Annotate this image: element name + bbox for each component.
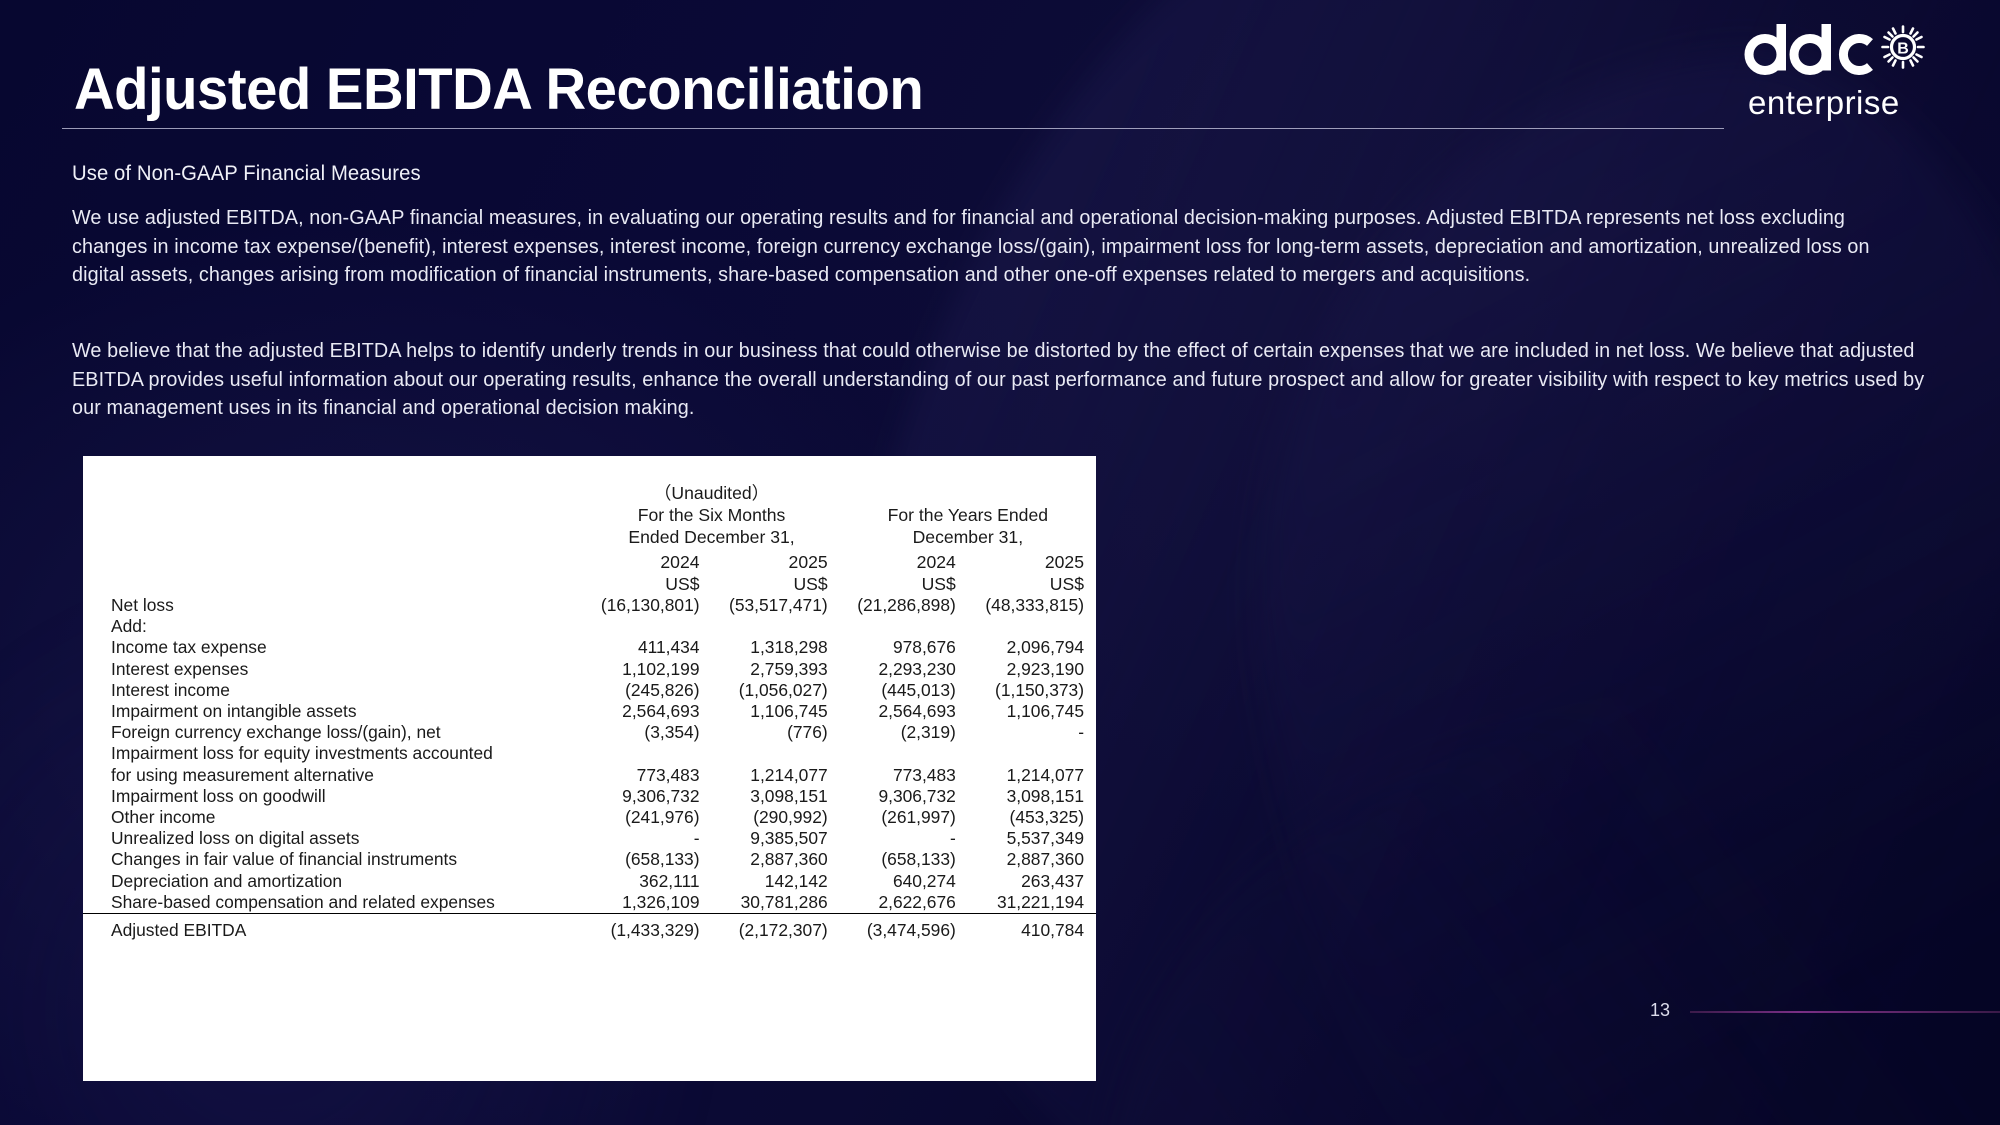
table-row: Add:: [83, 616, 1096, 637]
total-row-value-col1: (1,433,329): [583, 914, 711, 941]
row-value-col4: 5,537,349: [968, 828, 1096, 849]
group-header-line: December 31,: [840, 526, 1096, 548]
group-header-line: （Unaudited）: [583, 482, 839, 504]
row-label: Impairment loss on goodwill: [83, 786, 583, 807]
row-value-col1: (245,826): [583, 680, 711, 701]
row-value-col1: (658,133): [583, 849, 711, 870]
row-value-col1: 1,326,109: [583, 892, 711, 914]
reconciliation-table: （Unaudited）For the Six MonthsEnded Decem…: [83, 456, 1096, 941]
row-value-col1: [583, 616, 711, 637]
row-value-col1: [583, 743, 711, 764]
row-value-col4: [968, 616, 1096, 637]
table-row: Impairment loss for equity investments a…: [83, 743, 1096, 764]
total-row-value-col3: (3,474,596): [840, 914, 968, 941]
row-label: Depreciation and amortization: [83, 871, 583, 892]
row-value-col1: (241,976): [583, 807, 711, 828]
row-value-col3: 9,306,732: [840, 786, 968, 807]
page-title: Adjusted EBITDA Reconciliation: [74, 56, 923, 123]
row-value-col3: [840, 743, 968, 764]
group-header-line: Ended December 31,: [583, 526, 839, 548]
row-value-col3: 640,274: [840, 871, 968, 892]
table-row: for using measurement alternative773,483…: [83, 765, 1096, 786]
spacer-cell: [583, 456, 711, 482]
row-value-col4: (48,333,815): [968, 595, 1096, 616]
paragraph-non-gaap-belief: We believe that the adjusted EBITDA help…: [72, 337, 1934, 423]
group-header-line: For the Six Months: [583, 504, 839, 526]
row-value-col4: 2,096,794: [968, 637, 1096, 658]
group-header-line: For the Years Ended: [840, 504, 1096, 526]
paragraph-non-gaap-definition: We use adjusted EBITDA, non-GAAP financi…: [72, 204, 1906, 290]
row-value-col2: [712, 616, 840, 637]
row-value-col2: 2,759,393: [712, 659, 840, 680]
column-unit-header-1: US$: [583, 573, 711, 595]
row-value-col3: 2,564,693: [840, 701, 968, 722]
row-value-col3: 2,293,230: [840, 659, 968, 680]
row-value-col3: (261,997): [840, 807, 968, 828]
row-value-col4: 2,887,360: [968, 849, 1096, 870]
background-swoop-c: [1005, 562, 2000, 1125]
row-value-col1: 9,306,732: [583, 786, 711, 807]
row-value-col4: (453,325): [968, 807, 1096, 828]
row-value-col2: 30,781,286: [712, 892, 840, 914]
row-value-col1: (16,130,801): [583, 595, 711, 616]
table-row: Impairment on intangible assets2,564,693…: [83, 701, 1096, 722]
row-value-col4: 1,106,745: [968, 701, 1096, 722]
row-label: Other income: [83, 807, 583, 828]
row-value-col3: (2,319): [840, 722, 968, 743]
column-group-header-1: （Unaudited）For the Six MonthsEnded Decem…: [583, 482, 839, 551]
unit-header-blank: [83, 573, 583, 595]
table-row: Share-based compensation and related exp…: [83, 892, 1096, 914]
row-value-col1: 1,102,199: [583, 659, 711, 680]
title-underline-rule: [62, 128, 1724, 129]
table-total-row: Adjusted EBITDA(1,433,329)(2,172,307)(3,…: [83, 914, 1096, 941]
table-row: Changes in fair value of financial instr…: [83, 849, 1096, 870]
row-label: Income tax expense: [83, 637, 583, 658]
column-group-header-2: For the Years EndedDecember 31,: [840, 482, 1096, 551]
row-value-col4: 31,221,194: [968, 892, 1096, 914]
column-year-header-2: 2025: [712, 551, 840, 573]
column-unit-header-2: US$: [712, 573, 840, 595]
row-value-col2: 1,214,077: [712, 765, 840, 786]
row-value-col2: (290,992): [712, 807, 840, 828]
table-top-spacer: [83, 456, 1096, 482]
row-label: Impairment loss for equity investments a…: [83, 743, 583, 764]
row-value-col3: (21,286,898): [840, 595, 968, 616]
row-value-col2: 3,098,151: [712, 786, 840, 807]
row-value-col1: 773,483: [583, 765, 711, 786]
ddc-wordmark-icon: B: [1742, 24, 1942, 84]
row-value-col1: 362,111: [583, 871, 711, 892]
table-row: Interest expenses1,102,1992,759,3932,293…: [83, 659, 1096, 680]
row-value-col2: (53,517,471): [712, 595, 840, 616]
row-value-col2: 142,142: [712, 871, 840, 892]
page-number: 13: [1650, 1000, 1670, 1021]
spacer-cell: [840, 456, 968, 482]
row-label: Interest expenses: [83, 659, 583, 680]
row-value-col3: 978,676: [840, 637, 968, 658]
row-value-col1: -: [583, 828, 711, 849]
row-label: Impairment on intangible assets: [83, 701, 583, 722]
row-value-col2: 9,385,507: [712, 828, 840, 849]
row-value-col4: (1,150,373): [968, 680, 1096, 701]
row-label: Interest income: [83, 680, 583, 701]
column-year-header-4: 2025: [968, 551, 1096, 573]
row-value-col1: 2,564,693: [583, 701, 711, 722]
total-row-value-col2: (2,172,307): [712, 914, 840, 941]
row-label: Foreign currency exchange loss/(gain), n…: [83, 722, 583, 743]
logo-wordmark-text: enterprise: [1748, 84, 1900, 122]
group-header-blank: [83, 482, 583, 551]
row-label: Unrealized loss on digital assets: [83, 828, 583, 849]
row-value-col3: 2,622,676: [840, 892, 968, 914]
background-swoop-b: [1187, 4, 2000, 1125]
row-label: Net loss: [83, 595, 583, 616]
table-group-header-row: （Unaudited）For the Six MonthsEnded Decem…: [83, 482, 1096, 551]
brand-logo: B enterprise: [1742, 24, 1942, 120]
row-value-col2: 2,887,360: [712, 849, 840, 870]
spacer-cell: [83, 456, 583, 482]
table-row: Other income(241,976)(290,992)(261,997)(…: [83, 807, 1096, 828]
table-row: Foreign currency exchange loss/(gain), n…: [83, 722, 1096, 743]
row-value-col1: (3,354): [583, 722, 711, 743]
row-value-col4: 263,437: [968, 871, 1096, 892]
row-value-col2: [712, 743, 840, 764]
table-row: Unrealized loss on digital assets-9,385,…: [83, 828, 1096, 849]
total-row-value-col4: 410,784: [968, 914, 1096, 941]
table-unit-header-row: US$US$US$US$: [83, 573, 1096, 595]
table-row: Income tax expense411,4341,318,298978,67…: [83, 637, 1096, 658]
row-label: for using measurement alternative: [83, 765, 583, 786]
row-value-col3: (445,013): [840, 680, 968, 701]
row-value-col3: -: [840, 828, 968, 849]
row-value-col4: -: [968, 722, 1096, 743]
row-value-col4: [968, 743, 1096, 764]
section-subheading: Use of Non-GAAP Financial Measures: [72, 160, 421, 189]
row-label: Share-based compensation and related exp…: [83, 892, 583, 914]
slide-canvas: Adjusted EBITDA Reconciliation: [0, 0, 2000, 1125]
spacer-cell: [968, 456, 1096, 482]
total-row-label: Adjusted EBITDA: [83, 914, 583, 941]
row-value-col2: 1,318,298: [712, 637, 840, 658]
row-value-col4: 2,923,190: [968, 659, 1096, 680]
table-row: Net loss(16,130,801)(53,517,471)(21,286,…: [83, 595, 1096, 616]
spacer-cell: [712, 456, 840, 482]
row-value-col3: 773,483: [840, 765, 968, 786]
row-value-col4: 1,214,077: [968, 765, 1096, 786]
column-unit-header-4: US$: [968, 573, 1096, 595]
column-year-header-3: 2024: [840, 551, 968, 573]
row-value-col3: [840, 616, 968, 637]
column-unit-header-3: US$: [840, 573, 968, 595]
table-row: Impairment loss on goodwill9,306,7323,09…: [83, 786, 1096, 807]
row-value-col1: 411,434: [583, 637, 711, 658]
svg-text:B: B: [1897, 41, 1909, 58]
row-value-col3: (658,133): [840, 849, 968, 870]
table-row: Interest income(245,826)(1,056,027)(445,…: [83, 680, 1096, 701]
table-row: Depreciation and amortization362,111142,…: [83, 871, 1096, 892]
year-header-blank: [83, 551, 583, 573]
reconciliation-table-card: （Unaudited）For the Six MonthsEnded Decem…: [83, 456, 1096, 1081]
row-value-col4: 3,098,151: [968, 786, 1096, 807]
column-year-header-1: 2024: [583, 551, 711, 573]
table-year-header-row: 2024202520242025: [83, 551, 1096, 573]
row-value-col2: (1,056,027): [712, 680, 840, 701]
footer-accent-rule: [1690, 1011, 2000, 1013]
row-label: Changes in fair value of financial instr…: [83, 849, 583, 870]
row-label: Add:: [83, 616, 583, 637]
row-value-col2: (776): [712, 722, 840, 743]
row-value-col2: 1,106,745: [712, 701, 840, 722]
bitcoin-sun-icon: B: [1883, 27, 1924, 68]
